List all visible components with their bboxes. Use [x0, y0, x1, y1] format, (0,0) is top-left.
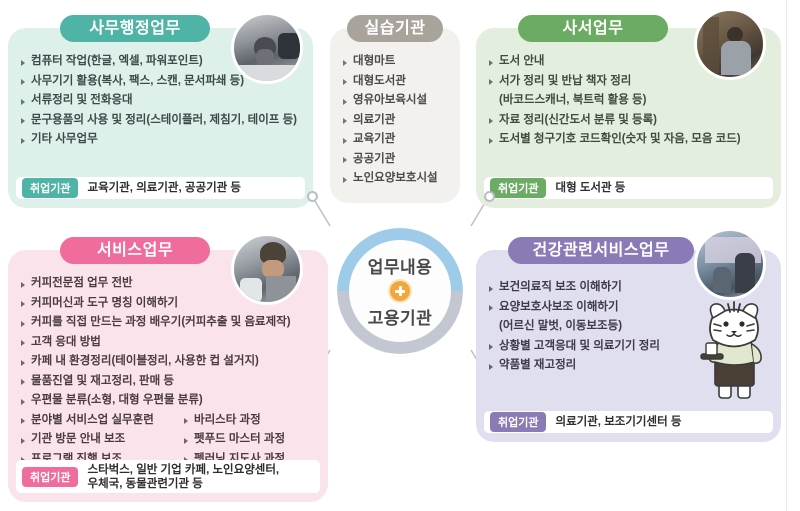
infographic-canvas: 사무행정업무 컴퓨터 작업(한글, 엑셀, 파워포인트) 사무기기 활용(복사,… [0, 0, 800, 511]
list-item: 대형도서관 [342, 72, 448, 92]
panel-library-footer: 취업기관 대형 도서관 등 [484, 177, 773, 199]
librarian-photo [694, 8, 766, 80]
list-item: 문구용품의 사용 및 정리(스테이플러, 제침기, 테이프 등) [20, 111, 301, 131]
employer-tag: 취업기관 [490, 178, 546, 198]
panel-service-footer: 취업기관 스타벅스, 일반 기업 카페, 노인요양센터, 우체국, 동물관련기관… [16, 460, 320, 493]
list-item-continuation: (바코드스캐너, 북트럭 활용 등) [488, 91, 769, 111]
list-item: 기타 사무업무 [20, 130, 301, 150]
list-item: 카페 내 환경정리(테이블정리, 사용한 컵 설거지) [20, 352, 316, 372]
panel-practice-institutions[interactable]: 실습기관 대형마트 대형도서관 영유아보육시설 의료기관 교육기관 공공기관 노… [330, 28, 460, 203]
list-item: 펫푸드 마스터 과정 [183, 430, 316, 450]
panel-health-title: 건강관련서비스업무 [508, 237, 694, 264]
list-item: 커피를 직접 만드는 과정 배우기(커피추출 및 음료제작) [20, 313, 316, 333]
list-item: 자료 정리(신간도서 분류 및 등록) [488, 111, 769, 131]
panel-practice-items: 대형마트 대형도서관 영유아보육시설 의료기관 교육기관 공공기관 노인요양보호… [330, 52, 460, 189]
employer-tag: 취업기관 [490, 412, 546, 432]
central-hub: 업무내용 고용기관 [337, 228, 463, 354]
two-column-row: 분야별 서비스업 실무훈련 바리스타 과정 [20, 411, 316, 431]
list-item: 우편물 분류(소형, 대형 우편물 분류) [20, 391, 316, 411]
list-item: 의료기관 [342, 111, 448, 131]
hub-label-top: 업무내용 [368, 253, 433, 278]
list-item: 기관 방문 안내 보조 [20, 430, 183, 450]
two-column-row: 기관 방문 안내 보조 펫푸드 마스터 과정 [20, 430, 316, 450]
panel-health-footer: 취업기관 의료기관, 보조기기센터 등 [484, 411, 773, 433]
list-item: 고객 응대 방법 [20, 333, 316, 353]
panel-office-footer: 취업기관 교육기관, 의료기관, 공공기관 등 [16, 177, 305, 199]
list-item: 공공기관 [342, 150, 448, 170]
health-class-photo [694, 228, 766, 300]
list-item: 교육기관 [342, 130, 448, 150]
panel-library-title: 사서업무 [518, 15, 668, 42]
panel-service-title: 서비스업무 [60, 237, 210, 264]
employer-value: 교육기관, 의료기관, 공공기관 등 [87, 181, 241, 195]
hub-label-bottom: 고용기관 [368, 304, 433, 329]
list-item: 바리스타 과정 [183, 411, 316, 431]
connector-node-top-right [484, 191, 495, 202]
list-item: 노인요양보호시설 [342, 169, 448, 189]
employer-tag: 취업기관 [22, 178, 78, 198]
page-edge-rule [786, 0, 787, 511]
list-item: 서류정리 및 전화응대 [20, 91, 301, 111]
list-item: 영유아보육시설 [342, 91, 448, 111]
employer-value: 대형 도서관 등 [555, 181, 625, 195]
tiger-mascot [697, 296, 771, 404]
hub-inner: 업무내용 고용기관 [349, 240, 451, 342]
barista-photo [231, 233, 303, 305]
connector-node-top-left [307, 191, 318, 202]
panel-office-title: 사무행정업무 [60, 15, 210, 42]
employer-value: 의료기관, 보조기기센터 등 [555, 415, 681, 429]
list-item: 도서별 청구기호 코드확인(숫자 및 자음, 모음 코드) [488, 130, 769, 150]
employer-tag: 취업기관 [22, 467, 78, 487]
list-item: 분야별 서비스업 실무훈련 [20, 411, 183, 431]
list-item: 물품진열 및 재고정리, 판매 등 [20, 372, 316, 392]
panel-practice-title: 실습기관 [347, 15, 443, 42]
plus-icon [390, 281, 410, 301]
panel-service-items: 커피전문점 업무 전반 커피머신과 도구 명칭 이해하기 커피를 직접 만드는 … [8, 274, 328, 469]
employer-value: 스타벅스, 일반 기업 카페, 노인요양센터, 우체국, 동물관련기관 등 [87, 463, 279, 491]
office-worker-photo [231, 12, 303, 84]
list-item: 대형마트 [342, 52, 448, 72]
